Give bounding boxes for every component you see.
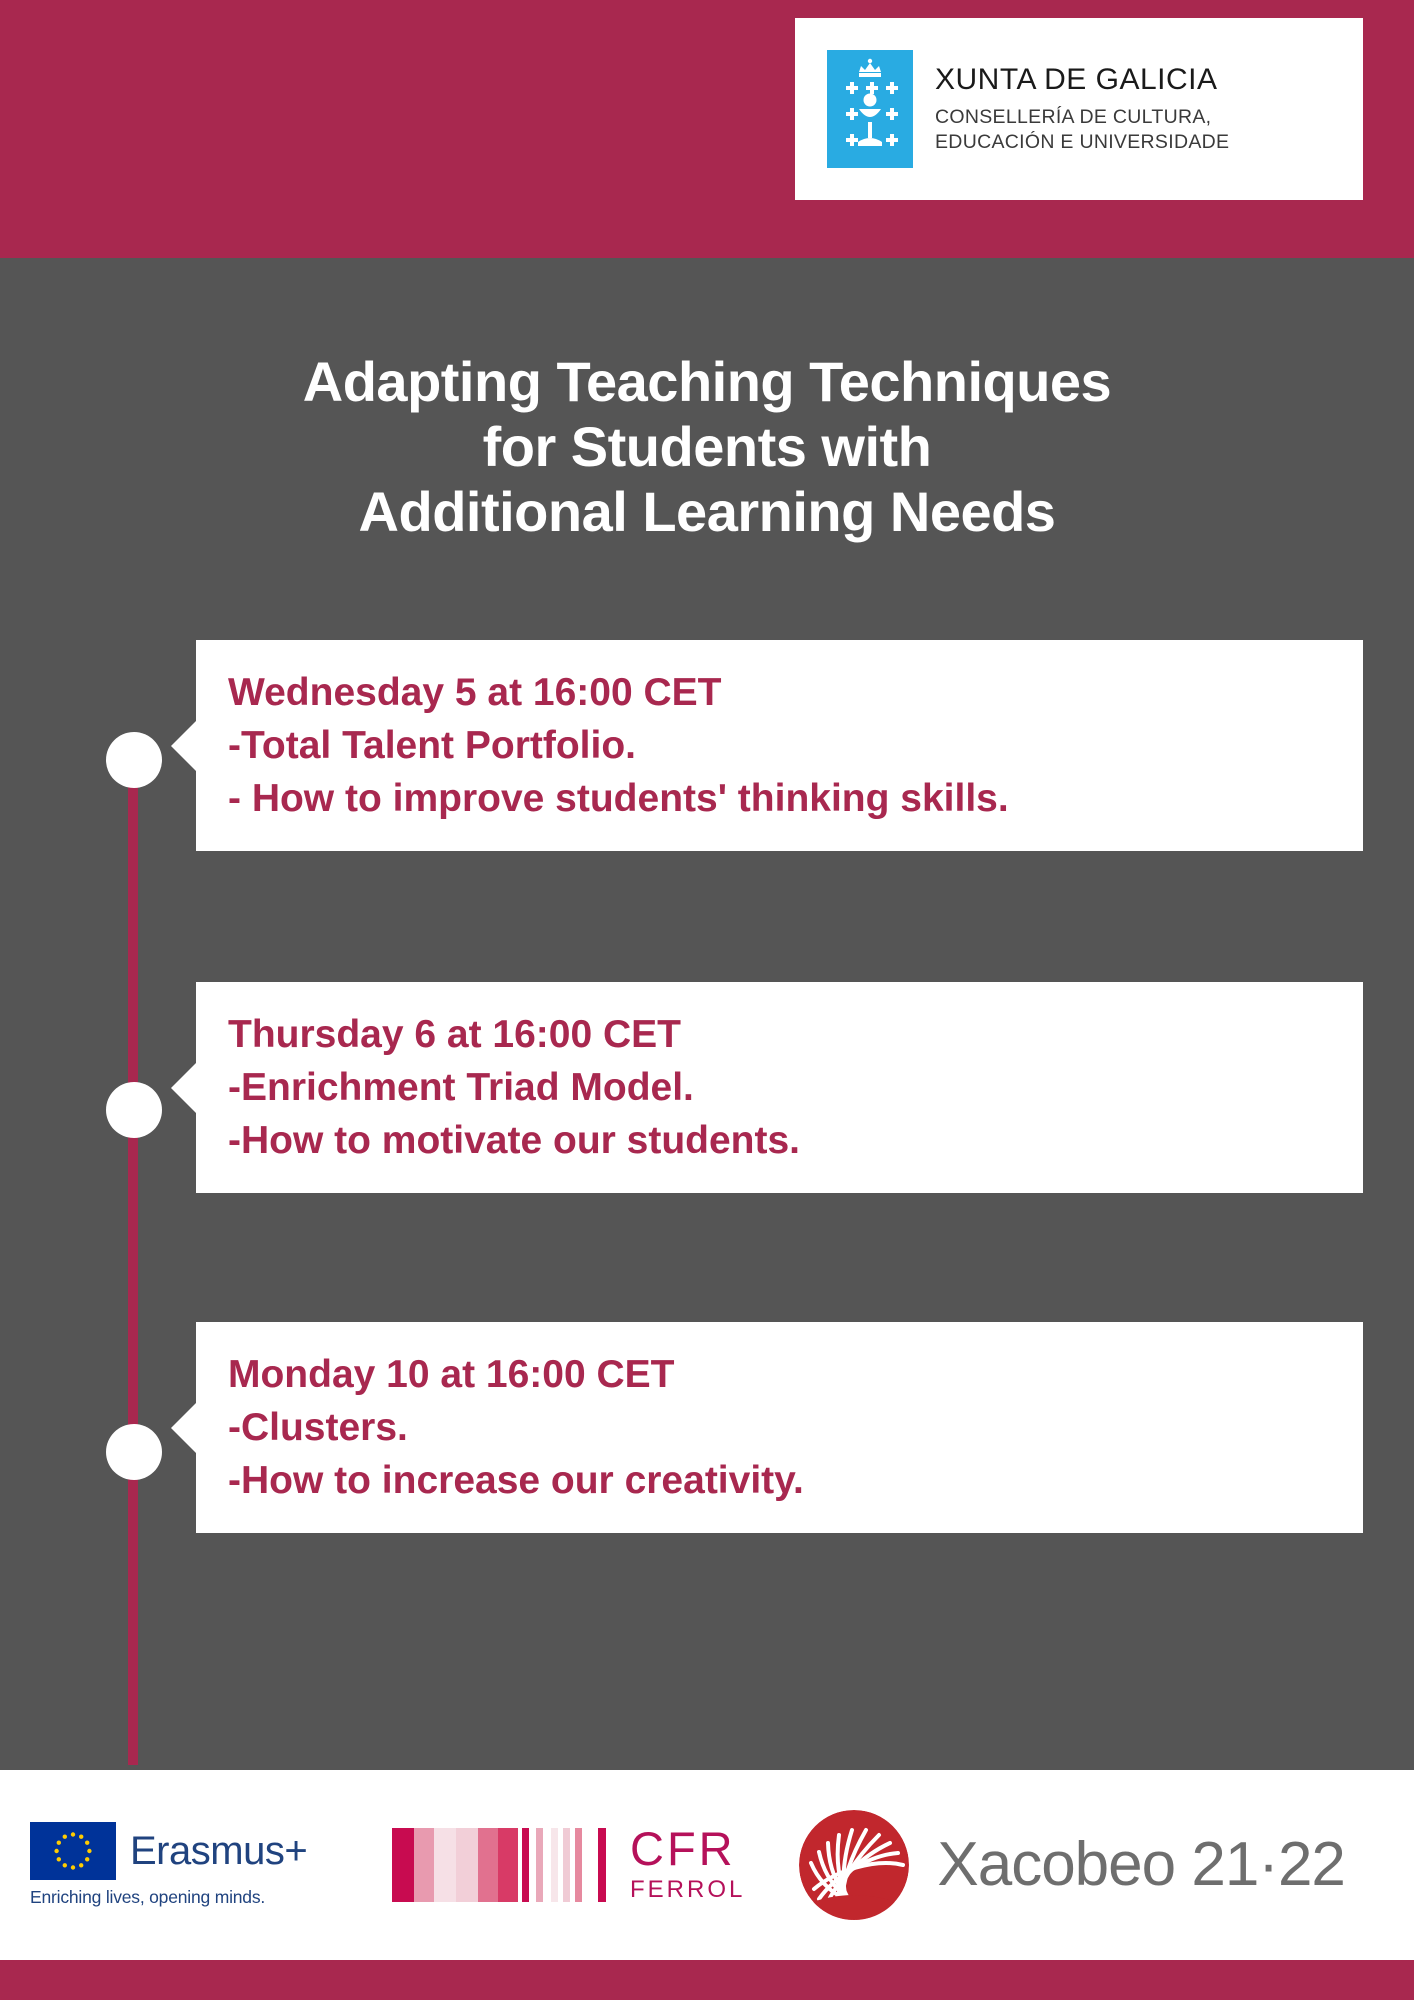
xacobeo-wordmark: Xacobeo 21·22 [937,1834,1345,1896]
footer-accent-bar [0,1960,1414,2000]
session-2-item-1: -Enrichment Triad Model. [228,1061,1363,1114]
erasmus-tagline: Enriching lives, opening minds. [30,1887,320,1908]
xunta-logo-subtitle-line-2: EDUCACIÓN E UNIVERSIDADE [935,131,1229,153]
timeline-node-3 [106,1424,162,1480]
cfr-wordmark-block: CFR FERROL [630,1826,745,1903]
cfr-barcode-icon [392,1828,606,1902]
xunta-logo-text: XUNTA DE GALICIA CONSELLERÍA DE CULTURA,… [935,63,1229,154]
session-1-item-2: - How to improve students' thinking skil… [228,772,1363,825]
poster: XUNTA DE GALICIA CONSELLERÍA DE CULTURA,… [0,0,1414,2000]
timeline-track [128,760,138,1765]
page-title: Adapting Teaching Techniques for Student… [0,350,1414,545]
xunta-logo-subtitle: CONSELLERÍA DE CULTURA, EDUCACIÓN E UNIV… [935,105,1229,155]
session-card-2: Thursday 6 at 16:00 CET -Enrichment Tria… [196,982,1363,1193]
session-1-heading: Wednesday 5 at 16:00 CET [228,666,1363,719]
cfr-ferrol-logo: CFR FERROL [392,1826,745,1903]
xacobeo-logo: Xacobeo 21·22 [797,1808,1345,1922]
timeline-node-2 [106,1082,162,1138]
erasmus-plus-logo: Erasmus+ Enriching lives, opening minds. [30,1822,320,1908]
cfr-wordmark: CFR [630,1826,745,1871]
session-card-3: Monday 10 at 16:00 CET -Clusters. -How t… [196,1322,1363,1533]
session-3-item-1: -Clusters. [228,1401,1363,1454]
page-title-line-2: for Students with [0,415,1414,480]
scallop-shell-icon [797,1808,911,1922]
timeline-node-1 [106,732,162,788]
header-bar: XUNTA DE GALICIA CONSELLERÍA DE CULTURA,… [0,0,1414,258]
session-3-heading: Monday 10 at 16:00 CET [228,1348,1363,1401]
erasmus-wordmark: Erasmus+ [130,1831,307,1871]
xunta-logo-title: XUNTA DE GALICIA [935,63,1229,98]
session-1-item-1: -Total Talent Portfolio. [228,719,1363,772]
session-3-item-2: -How to increase our creativity. [228,1454,1363,1507]
footer-logos: Erasmus+ Enriching lives, opening minds. [0,1770,1414,1960]
session-card-1: Wednesday 5 at 16:00 CET -Total Talent P… [196,640,1363,851]
galicia-chalice-shield-icon [827,50,913,168]
session-2-item-2: -How to motivate our students. [228,1114,1363,1167]
xunta-de-galicia-logo: XUNTA DE GALICIA CONSELLERÍA DE CULTURA,… [795,18,1363,200]
cfr-sub-wordmark: FERROL [630,1876,745,1904]
page-title-line-1: Adapting Teaching Techniques [0,350,1414,415]
page-title-line-3: Additional Learning Needs [0,480,1414,545]
xunta-logo-subtitle-line-1: CONSELLERÍA DE CULTURA, [935,106,1211,128]
session-2-heading: Thursday 6 at 16:00 CET [228,1008,1363,1061]
eu-flag-icon [30,1822,116,1880]
